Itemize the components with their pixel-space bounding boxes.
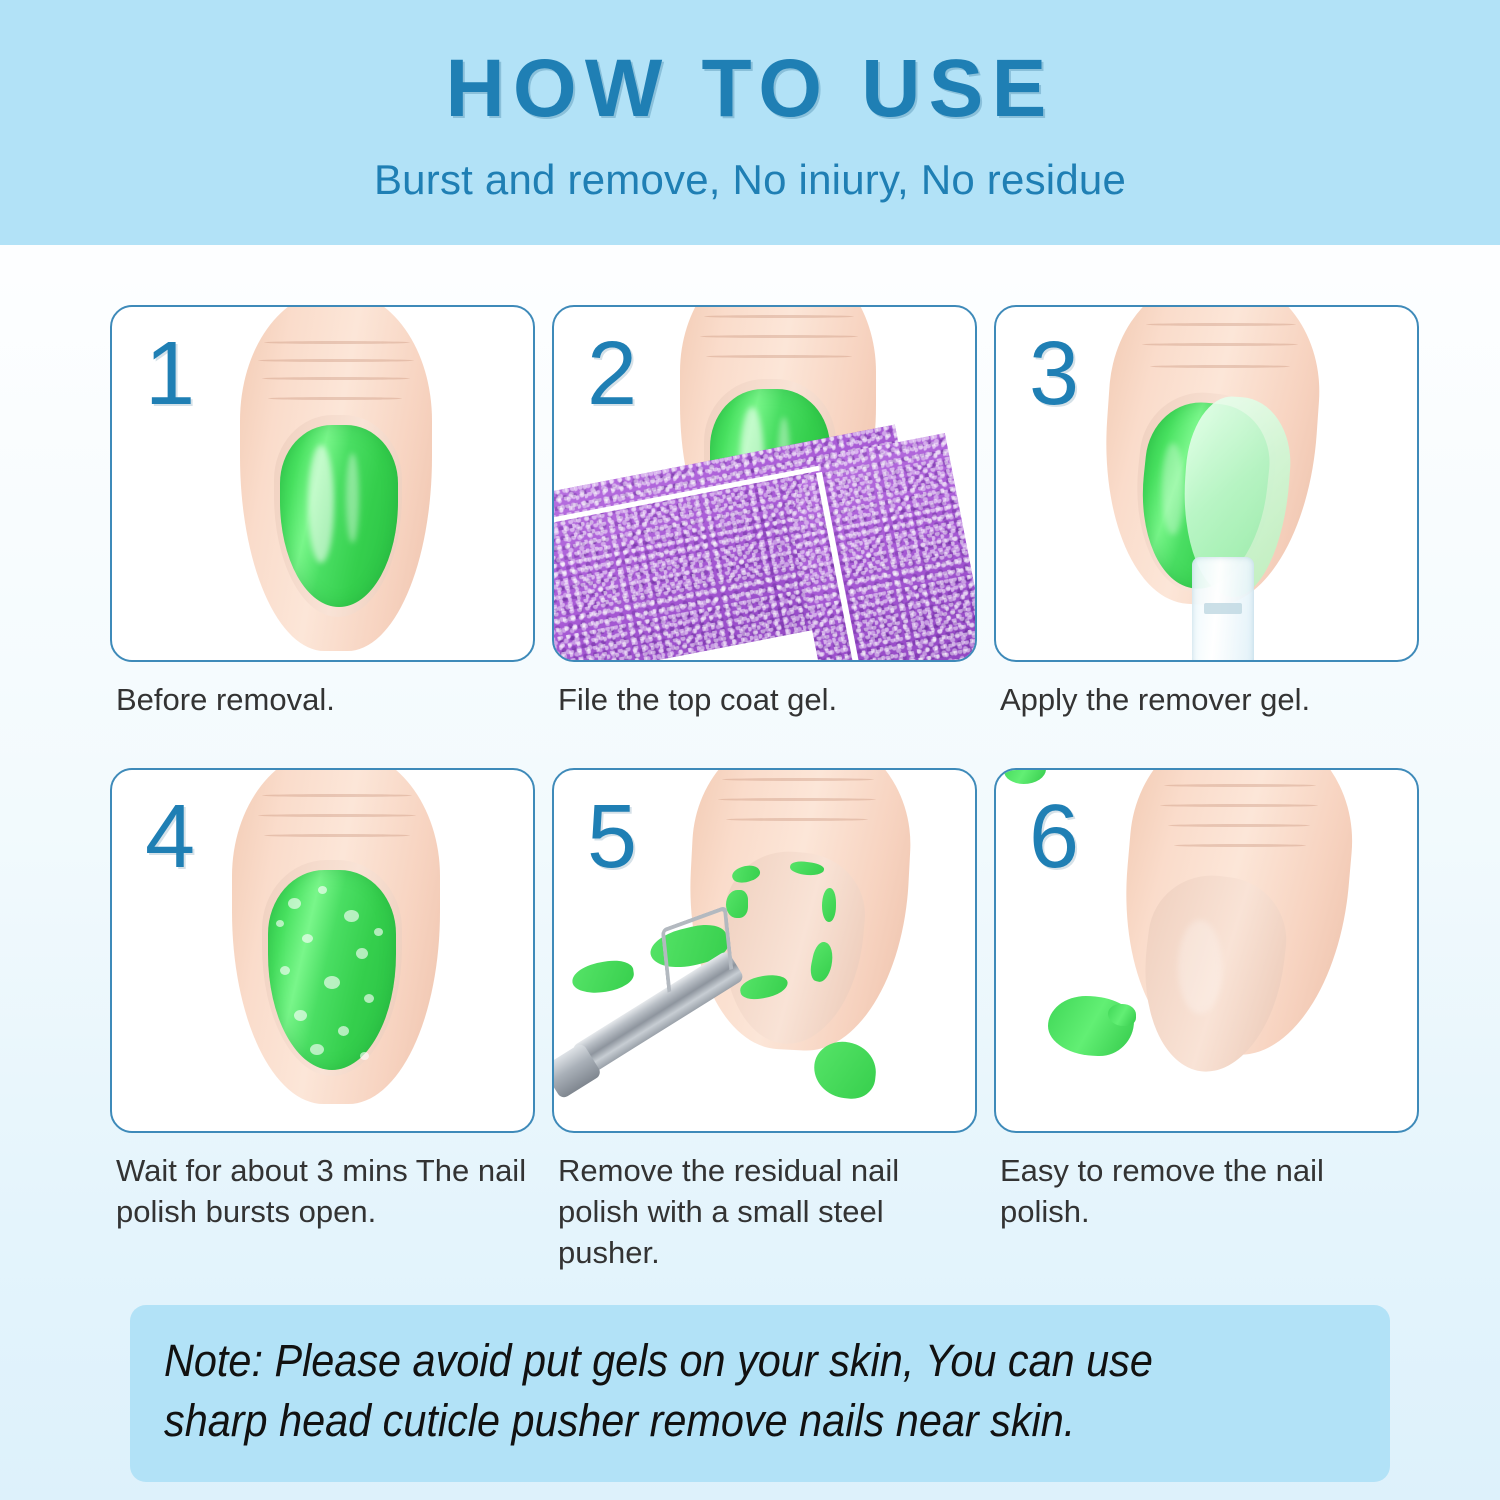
step-card-1[interactable]: 1 [110, 305, 535, 662]
step-caption-4: Wait for about 3 mins The nail polish bu… [110, 1151, 535, 1233]
step-number-6: 6 [1029, 792, 1079, 882]
step-number-1: 1 [145, 329, 195, 419]
step-caption-5: Remove the residual nail polish with a s… [552, 1151, 977, 1274]
step-card-3[interactable]: 3 [994, 305, 1419, 662]
step-caption-1: Before removal. [110, 680, 535, 721]
step-cell-6: 6 Easy to remove the nail polish. [994, 768, 1419, 1274]
step-cell-1: 1 Before removal. [110, 305, 535, 721]
step-number-3: 3 [1029, 329, 1079, 419]
step-number-4: 4 [145, 792, 195, 882]
steps-row-2: 4 Wait for about 3 mins The nail polish … [110, 768, 1390, 1274]
step-card-4[interactable]: 4 [110, 768, 535, 1133]
step-cell-4: 4 Wait for about 3 mins The nail polish … [110, 768, 535, 1274]
step-card-5[interactable]: 5 [552, 768, 977, 1133]
step-card-6[interactable]: 6 [994, 768, 1419, 1133]
note-box: Note: Please avoid put gels on your skin… [130, 1305, 1390, 1482]
step-cell-5: 5 Remove the residual nail polish with a… [552, 768, 977, 1274]
step-caption-6: Easy to remove the nail polish. [994, 1151, 1419, 1233]
steps-grid: 1 Before removal. [0, 245, 1500, 1274]
step-cell-3: 3 Apply the remover gel. [994, 305, 1419, 721]
step-number-2: 2 [587, 329, 637, 419]
step-caption-2: File the top coat gel. [552, 680, 977, 721]
step-card-2[interactable]: 2 [552, 305, 977, 662]
steps-row-1: 1 Before removal. [110, 305, 1390, 721]
page-subtitle: Burst and remove, No iniury, No residue [374, 156, 1126, 204]
page-title: HOW TO USE [446, 48, 1055, 130]
note-text: Note: Please avoid put gels on your skin… [164, 1331, 1261, 1452]
step-number-5: 5 [587, 792, 637, 882]
step-cell-2: 2 File the top coat gel. [552, 305, 977, 721]
step-caption-3: Apply the remover gel. [994, 680, 1419, 721]
page-header: HOW TO USE Burst and remove, No iniury, … [0, 0, 1500, 245]
